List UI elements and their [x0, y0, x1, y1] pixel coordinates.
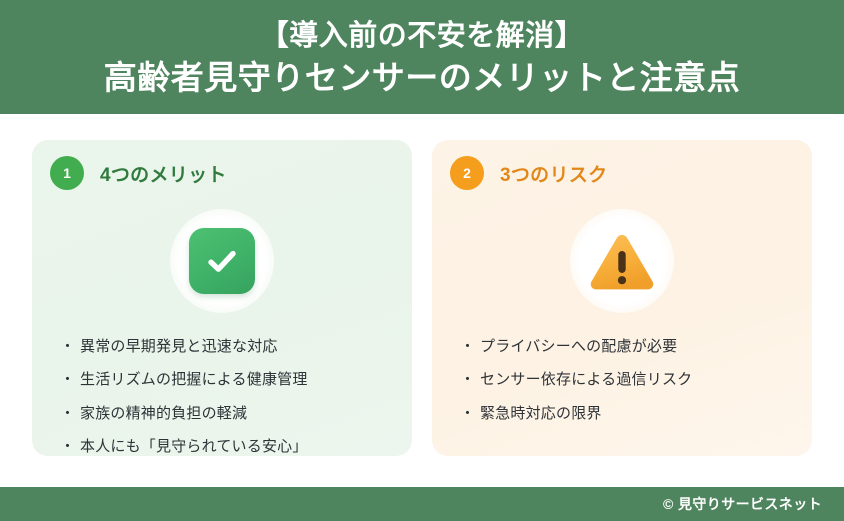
merit-list: 異常の早期発見と迅速な対応 生活リズムの把握による健康管理 家族の精神的負担の軽… [32, 330, 412, 456]
risk-card-title: 3つのリスク [500, 160, 607, 187]
header-banner: 【導入前の不安を解消】 高齢者見守りセンサーのメリットと注意点 [0, 0, 844, 114]
check-mark-icon [189, 228, 255, 294]
infographic-page: 【導入前の不安を解消】 高齢者見守りセンサーのメリットと注意点 1 4つのメリッ… [0, 0, 844, 521]
risk-card: 2 3つのリスク [432, 140, 812, 456]
list-item: 異常の早期発見と迅速な対応 [66, 330, 394, 363]
list-item: 生活リズムの把握による健康管理 [66, 363, 394, 396]
merit-card: 1 4つのメリット 異常の早期発見と迅速な対応 生活リズムの把握による健康管理 … [32, 140, 412, 456]
risk-card-header: 2 3つのリスク [432, 140, 812, 190]
risk-icon-wrap [432, 206, 812, 316]
list-item: プライバシーへの配慮が必要 [466, 330, 794, 363]
merit-icon-halo [170, 209, 274, 313]
warning-triangle-icon [586, 229, 658, 293]
merit-card-header: 1 4つのメリット [32, 140, 412, 190]
copyright-text: © 見守りサービスネット [663, 494, 822, 514]
risk-list: プライバシーへの配慮が必要 センサー依存による過信リスク 緊急時対応の限界 [432, 330, 812, 430]
page-title-line-1: 【導入前の不安を解消】 [260, 18, 585, 54]
list-item: 緊急時対応の限界 [466, 397, 794, 430]
merit-icon-wrap [32, 206, 412, 316]
footer-banner: © 見守りサービスネット [0, 487, 844, 521]
list-item: 家族の精神的負担の軽減 [66, 397, 394, 430]
list-item: 本人にも「見守られている安心」 [66, 430, 394, 456]
risk-icon-halo [570, 209, 674, 313]
merit-card-title: 4つのメリット [100, 160, 227, 187]
risk-badge: 2 [450, 156, 484, 190]
page-title-line-2: 高齢者見守りセンサーのメリットと注意点 [104, 57, 741, 100]
list-item: センサー依存による過信リスク [466, 363, 794, 396]
cards-area: 1 4つのメリット 異常の早期発見と迅速な対応 生活リズムの把握による健康管理 … [0, 114, 844, 487]
merit-badge: 1 [50, 156, 84, 190]
